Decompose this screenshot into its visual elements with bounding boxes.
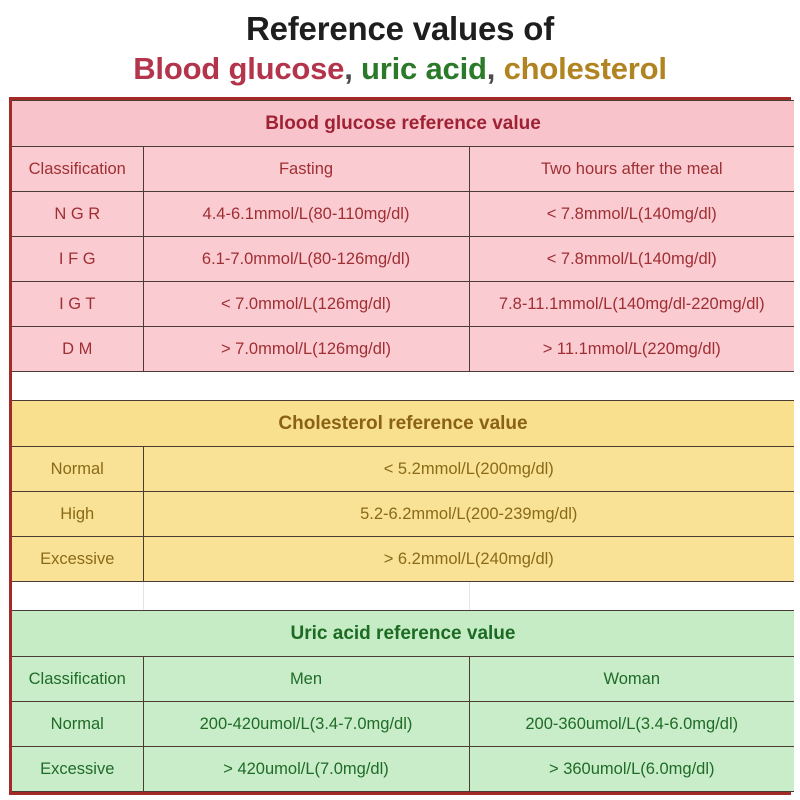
header-classification: Classification — [12, 657, 143, 702]
page-title: Reference values of Blood glucose, uric … — [0, 0, 800, 89]
cell-after-meal: < 7.8mmol/L(140mg/dl) — [469, 192, 794, 237]
header-men: Men — [143, 657, 469, 702]
uric-acid-table: Uric acid reference value Classification… — [12, 610, 794, 792]
spacer-row — [12, 582, 794, 610]
title-line-secondary: Blood glucose, uric acid, cholesterol — [0, 50, 800, 89]
blood-glucose-banner: Blood glucose reference value — [12, 101, 794, 147]
title-term-blood-glucose: Blood glucose — [133, 51, 344, 86]
row-label: Normal — [12, 702, 143, 747]
table-banner-row: Cholesterol reference value — [12, 401, 794, 447]
row-label: Normal — [12, 447, 143, 492]
title-term-uric-acid: uric acid — [361, 51, 487, 86]
table-header-row: Classification Fasting Two hours after t… — [12, 147, 794, 192]
reference-values-page: Reference values of Blood glucose, uric … — [0, 0, 800, 800]
cell-after-meal: 7.8-11.1mmol/L(140mg/dl-220mg/dl) — [469, 282, 794, 327]
cell-woman: > 360umol/L(6.0mg/dl) — [469, 747, 794, 792]
title-term-cholesterol: cholesterol — [504, 51, 667, 86]
title-separator-2: , — [487, 51, 504, 86]
header-fasting: Fasting — [143, 147, 469, 192]
row-label: I F G — [12, 237, 143, 282]
table-row: D M > 7.0mmol/L(126mg/dl) > 11.1mmol/L(2… — [12, 327, 794, 372]
cell-men: > 420umol/L(7.0mg/dl) — [143, 747, 469, 792]
cell-value: < 5.2mmol/L(200mg/dl) — [143, 447, 794, 492]
blood-glucose-table: Blood glucose reference value Classifica… — [12, 100, 794, 372]
row-label: D M — [12, 327, 143, 372]
header-classification: Classification — [12, 147, 143, 192]
spacer-cell — [469, 372, 794, 400]
table-row: I G T < 7.0mmol/L(126mg/dl) 7.8-11.1mmol… — [12, 282, 794, 327]
cell-fasting: 6.1-7.0mmol/L(80-126mg/dl) — [143, 237, 469, 282]
row-label: N G R — [12, 192, 143, 237]
cell-woman: 200-360umol/L(3.4-6.0mg/dl) — [469, 702, 794, 747]
reference-tables-container: Blood glucose reference value Classifica… — [9, 97, 791, 795]
cholesterol-banner: Cholesterol reference value — [12, 401, 794, 447]
table-spacer-cholesterol-uric — [12, 582, 794, 610]
table-row: N G R 4.4-6.1mmol/L(80-110mg/dl) < 7.8mm… — [12, 192, 794, 237]
spacer-cell — [12, 372, 143, 400]
title-separator-1: , — [344, 51, 361, 86]
row-label: High — [12, 492, 143, 537]
header-woman: Woman — [469, 657, 794, 702]
spacer-cell — [12, 582, 143, 610]
table-row: Normal 200-420umol/L(3.4-7.0mg/dl) 200-3… — [12, 702, 794, 747]
cholesterol-table: Cholesterol reference value Normal < 5.2… — [12, 400, 794, 582]
table-header-row: Classification Men Woman — [12, 657, 794, 702]
header-two-hours-after-meal: Two hours after the meal — [469, 147, 794, 192]
title-line-primary: Reference values of — [0, 9, 800, 49]
table-row: I F G 6.1-7.0mmol/L(80-126mg/dl) < 7.8mm… — [12, 237, 794, 282]
table-row: High 5.2-6.2mmol/L(200-239mg/dl) — [12, 492, 794, 537]
cell-fasting: 4.4-6.1mmol/L(80-110mg/dl) — [143, 192, 469, 237]
cell-value: 5.2-6.2mmol/L(200-239mg/dl) — [143, 492, 794, 537]
table-banner-row: Blood glucose reference value — [12, 101, 794, 147]
cell-fasting: < 7.0mmol/L(126mg/dl) — [143, 282, 469, 327]
spacer-cell — [143, 372, 469, 400]
uric-acid-banner: Uric acid reference value — [12, 611, 794, 657]
table-spacer-glucose-cholesterol — [12, 372, 794, 400]
table-row: Excessive > 420umol/L(7.0mg/dl) > 360umo… — [12, 747, 794, 792]
table-row: Excessive > 6.2mmol/L(240mg/dl) — [12, 537, 794, 582]
cell-after-meal: > 11.1mmol/L(220mg/dl) — [469, 327, 794, 372]
row-label: Excessive — [12, 747, 143, 792]
cell-men: 200-420umol/L(3.4-7.0mg/dl) — [143, 702, 469, 747]
row-label: I G T — [12, 282, 143, 327]
spacer-cell — [143, 582, 469, 610]
cell-value: > 6.2mmol/L(240mg/dl) — [143, 537, 794, 582]
spacer-row — [12, 372, 794, 400]
table-banner-row: Uric acid reference value — [12, 611, 794, 657]
spacer-cell — [469, 582, 794, 610]
cell-after-meal: < 7.8mmol/L(140mg/dl) — [469, 237, 794, 282]
cell-fasting: > 7.0mmol/L(126mg/dl) — [143, 327, 469, 372]
table-row: Normal < 5.2mmol/L(200mg/dl) — [12, 447, 794, 492]
row-label: Excessive — [12, 537, 143, 582]
